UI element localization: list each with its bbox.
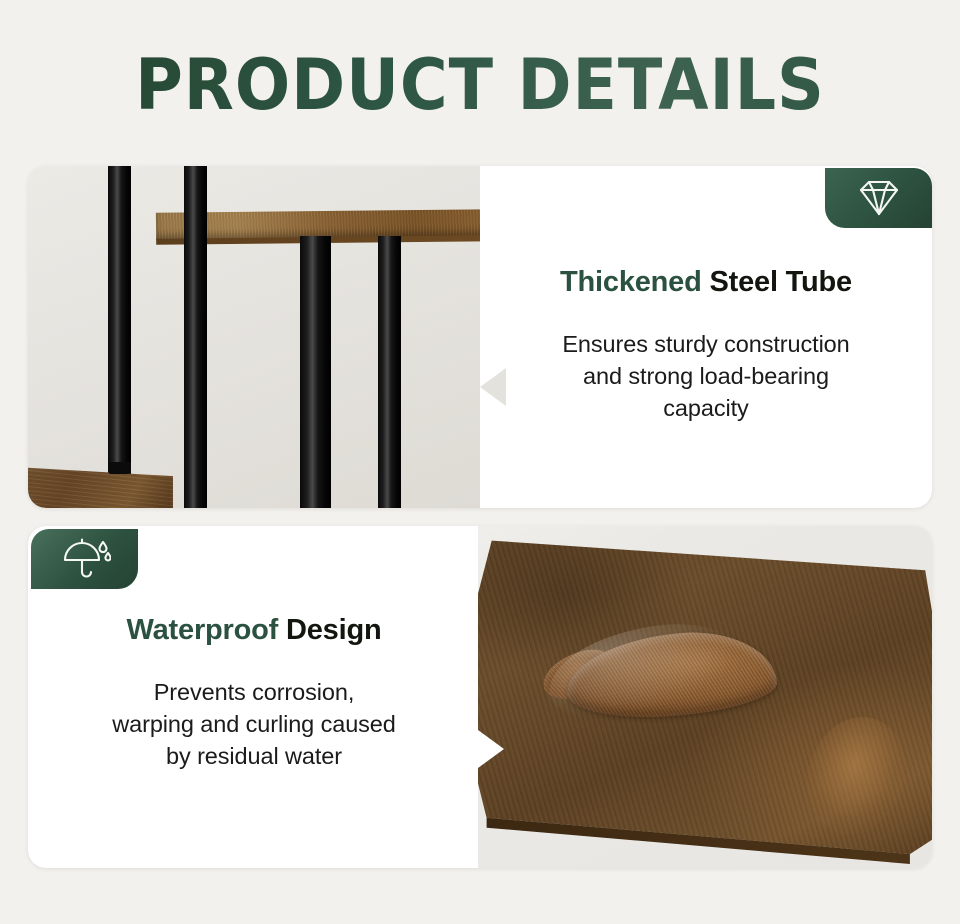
feature-card-waterproof: Waterproof Design Prevents corrosion, wa… [28, 526, 932, 868]
steel-tube-leg [378, 236, 401, 508]
umbrella-raindrops-icon [59, 538, 111, 580]
umbrella-badge [31, 529, 138, 589]
feature-heading: Waterproof Design [56, 612, 452, 648]
feature-body-line: Ensures sturdy construction [508, 328, 904, 360]
steel-tube-leg [108, 166, 131, 485]
feature-card-steel-tube: Thickened Steel Tube Ensures sturdy cons… [28, 166, 932, 508]
steel-tube-foot [108, 462, 131, 474]
diamond-badge [825, 168, 932, 228]
steel-tube-leg [300, 236, 331, 508]
feature-heading-rest: Design [278, 614, 381, 646]
diamond-icon [856, 178, 902, 218]
feature-heading-rest: Steel Tube [702, 266, 852, 298]
feature-body-line: and strong load-bearing [508, 360, 904, 392]
feature-body-line: by residual water [56, 740, 452, 772]
feature-body: Ensures sturdy construction and strong l… [508, 328, 904, 424]
feature-heading: Thickened Steel Tube [508, 264, 904, 300]
waterproof-board-photo [478, 526, 932, 868]
feature-heading-accent: Waterproof [127, 614, 279, 646]
feature-heading-accent: Thickened [560, 266, 702, 298]
steel-tube-leg [184, 166, 207, 508]
waterproof-copy: Waterproof Design Prevents corrosion, wa… [28, 612, 480, 772]
feature-body: Prevents corrosion, warping and curling … [56, 676, 452, 772]
feature-body-line: capacity [508, 392, 904, 424]
bottom-wood-shelf [28, 466, 173, 508]
steel-tube-closeup-photo [28, 166, 482, 508]
feature-body-line: Prevents corrosion, [56, 676, 452, 708]
steel-tube-copy: Thickened Steel Tube Ensures sturdy cons… [480, 264, 932, 424]
page-title: PRODUCT DETAILS [34, 46, 927, 124]
feature-body-line: warping and curling caused [56, 708, 452, 740]
